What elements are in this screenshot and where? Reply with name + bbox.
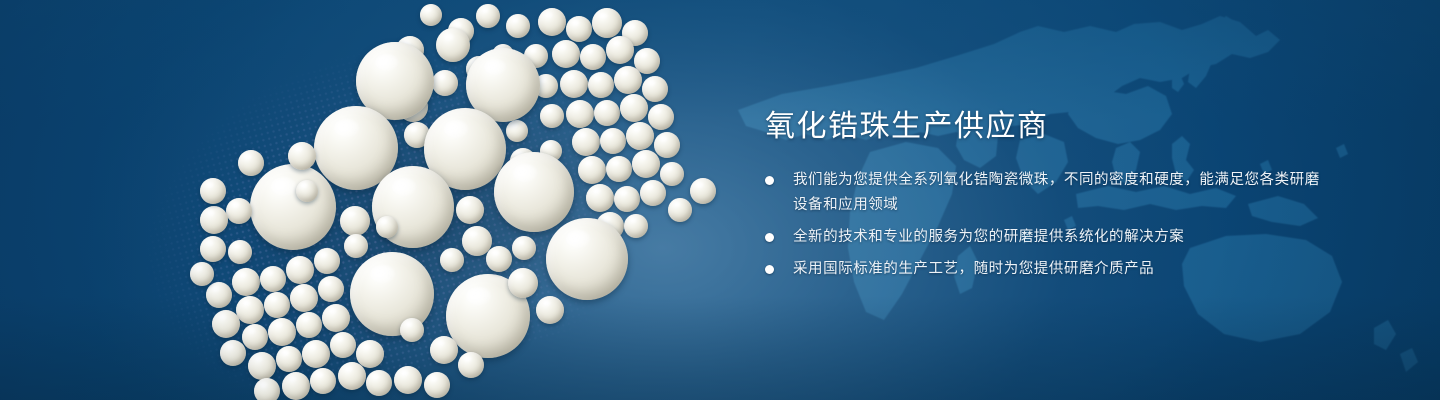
bullet-item: 采用国际标准的生产工艺，随时为您提供研磨介质产品 [765, 257, 1325, 282]
bullet-dot-icon [765, 176, 774, 185]
bullet-text: 我们能为您提供全系列氧化锆陶瓷微珠，不同的密度和硬度，能满足您各类研磨设备和应用… [793, 168, 1325, 218]
banner-headline: 氧化锆珠生产供应商 [765, 108, 1325, 146]
bullet-item: 我们能为您提供全系列氧化锆陶瓷微珠，不同的密度和硬度，能满足您各类研磨设备和应用… [765, 168, 1325, 218]
bullet-dot-icon [765, 233, 774, 242]
bullet-text: 采用国际标准的生产工艺，随时为您提供研磨介质产品 [793, 257, 1325, 282]
bullet-item: 全新的技术和专业的服务为您的研磨提供系统化的解决方案 [765, 225, 1325, 250]
hero-banner: 氧化锆珠生产供应商 我们能为您提供全系列氧化锆陶瓷微珠，不同的密度和硬度，能满足… [0, 0, 1440, 400]
bullet-dot-icon [765, 265, 774, 274]
banner-bullet-list: 我们能为您提供全系列氧化锆陶瓷微珠，不同的密度和硬度，能满足您各类研磨设备和应用… [765, 168, 1325, 282]
banner-copy-block: 氧化锆珠生产供应商 我们能为您提供全系列氧化锆陶瓷微珠，不同的密度和硬度，能满足… [765, 108, 1325, 282]
bullet-text: 全新的技术和专业的服务为您的研磨提供系统化的解决方案 [793, 225, 1325, 250]
